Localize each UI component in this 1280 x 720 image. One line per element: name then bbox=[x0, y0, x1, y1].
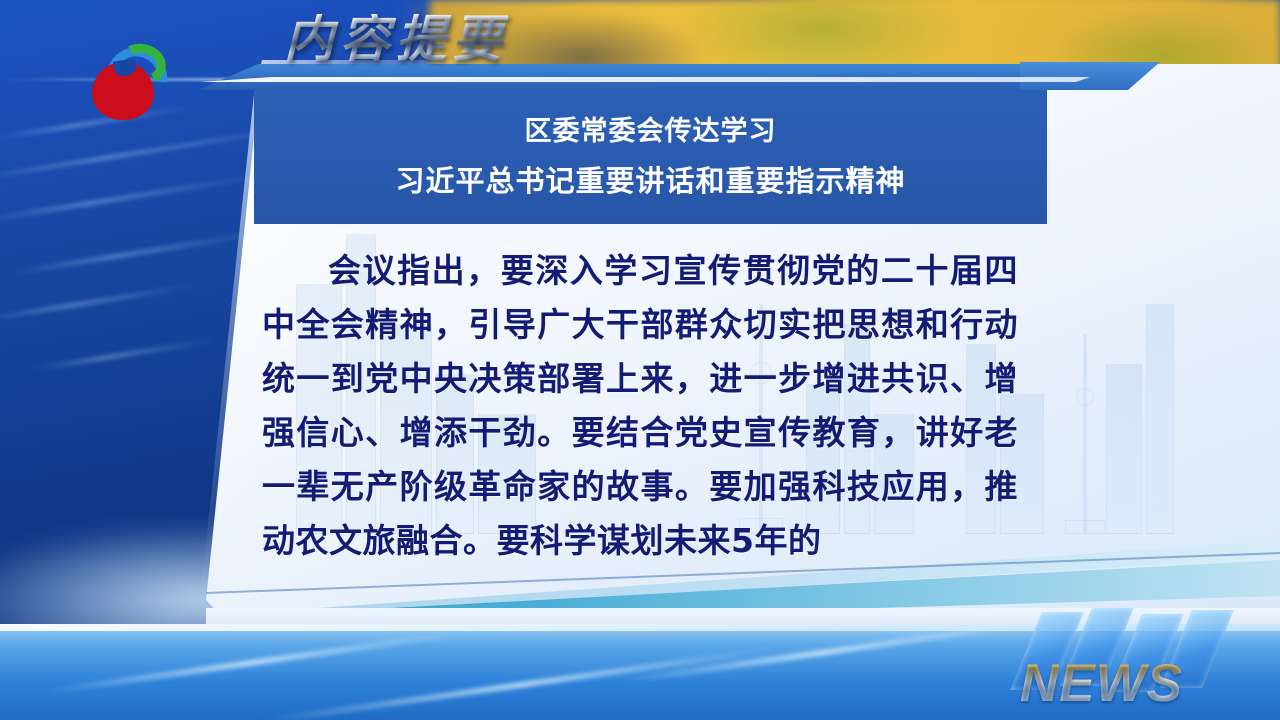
news-watermark: NEWS bbox=[1008, 608, 1258, 718]
headline-line-2: 习近平总书记重要讲话和重要指示精神 bbox=[395, 158, 905, 200]
peach-station-logo-icon bbox=[88, 38, 174, 122]
article-paragraph-text: 会议指出，要深入学习宣传贯彻党的二十届四中全会精神，引导广大干部群众切实把思想和… bbox=[262, 251, 1018, 560]
broadcast-screen: 区委常委会传达学习 习近平总书记重要讲话和重要指示精神 会议指出，要深入学习宣传… bbox=[0, 0, 1280, 720]
headline-line-1: 区委常委会传达学习 bbox=[525, 109, 777, 148]
page-title: 内容提要 bbox=[284, 14, 508, 64]
headline-banner-text: 区委常委会传达学习 习近平总书记重要讲话和重要指示精神 bbox=[254, 84, 1047, 224]
headline-banner: 区委常委会传达学习 习近平总书记重要讲话和重要指示精神 bbox=[254, 84, 1047, 224]
article-paragraph: 会议指出，要深入学习宣传贯彻党的二十届四中全会精神，引导广大干部群众切实把思想和… bbox=[262, 244, 1018, 568]
headline-banner-hairline bbox=[200, 77, 1090, 82]
news-watermark-text: NEWS bbox=[1020, 653, 1183, 714]
